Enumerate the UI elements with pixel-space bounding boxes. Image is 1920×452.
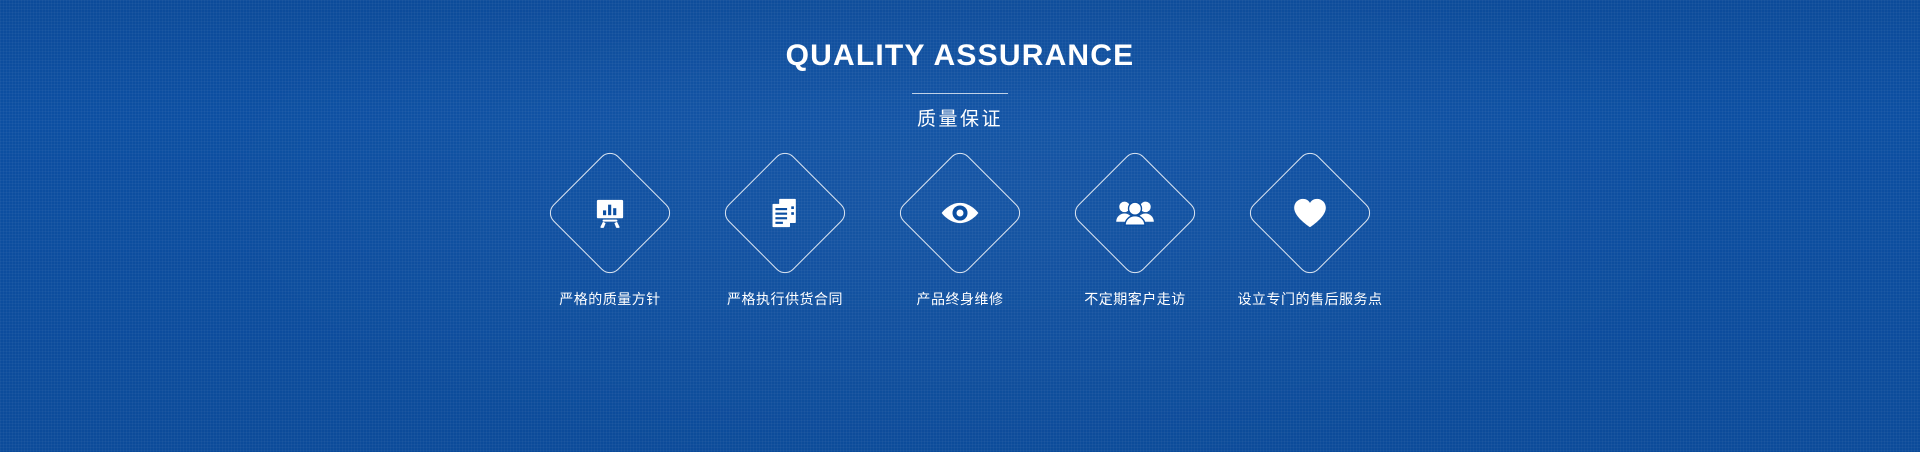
people-group-icon [1112,190,1158,236]
feature-item-lifetime-repair[interactable]: 产品终身维修 [873,167,1048,306]
heart-icon [1287,190,1333,236]
diamond-frame [1245,148,1375,278]
eye-icon [937,190,983,236]
diamond-frame [720,148,850,278]
presentation-chart-icon [587,190,633,236]
feature-list: 严格的质量方针 [0,167,1920,306]
quality-assurance-banner: QUALITY ASSURANCE 质量保证 [0,0,1920,452]
heading-block: QUALITY ASSURANCE 质量保证 [0,0,1920,129]
feature-item-supply-contract[interactable]: 严格执行供货合同 [698,167,873,306]
title-divider [912,93,1008,94]
page-title: QUALITY ASSURANCE [0,41,1920,71]
feature-label: 产品终身维修 [917,292,1004,306]
feature-label: 设立专门的售后服务点 [1238,292,1383,306]
feature-label: 严格执行供货合同 [727,292,843,306]
feature-item-quality-policy[interactable]: 严格的质量方针 [523,167,698,306]
diamond-frame [1070,148,1200,278]
diamond-frame [895,148,1025,278]
feature-item-service-points[interactable]: 设立专门的售后服务点 [1223,167,1398,306]
document-contract-icon [762,190,808,236]
diamond-frame [545,148,675,278]
page-subtitle: 质量保证 [0,110,1920,129]
feature-item-customer-visits[interactable]: 不定期客户走访 [1048,167,1223,306]
feature-label: 严格的质量方针 [559,292,661,306]
feature-label: 不定期客户走访 [1084,292,1186,306]
